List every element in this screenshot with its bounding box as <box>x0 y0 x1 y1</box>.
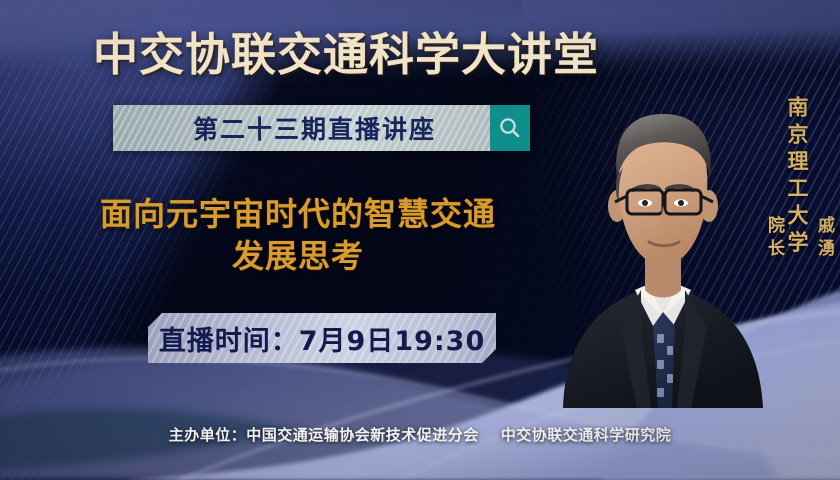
speaker-name: 戚湧 <box>814 216 834 262</box>
broadcast-time-chip: 直播时间：7月9日19:30 <box>148 313 496 363</box>
session-label-box: 第二十三期直播讲座 <box>113 105 490 151</box>
lecture-topic-line-2: 发展思考 <box>38 235 558 277</box>
organizer-name-1: 中国交通运输协会新技术促进分会 <box>246 426 479 444</box>
live-lecture-poster: 中交协联交通科学大讲堂 第二十三期直播讲座 面向元宇宙时代的智慧交通 发展思考 … <box>0 0 840 480</box>
speaker-identity: 戚湧 院长 <box>742 112 840 262</box>
organizer-footer: 主办单位：中国交通运输协会新技术促进分会中交协联交通科学研究院 <box>0 424 840 445</box>
session-label: 第二十三期直播讲座 <box>167 110 436 146</box>
broadcast-time: 直播时间：7月9日19:30 <box>159 319 486 358</box>
speaker-portrait <box>545 78 775 408</box>
organizer-name-2: 中交协联交通科学研究院 <box>501 426 672 444</box>
search-icon <box>498 116 522 140</box>
session-banner: 第二十三期直播讲座 <box>113 105 530 151</box>
lecture-topic-line-1: 面向元宇宙时代的智慧交通 <box>38 193 558 235</box>
organizer-prefix: 主办单位： <box>169 426 247 444</box>
search-button[interactable] <box>490 105 530 151</box>
speaker-spacer <box>789 216 809 239</box>
page-title: 中交协联交通科学大讲堂 <box>0 18 840 83</box>
speaker-title: 院长 <box>764 216 784 262</box>
lecture-topic: 面向元宇宙时代的智慧交通 发展思考 <box>38 193 558 277</box>
